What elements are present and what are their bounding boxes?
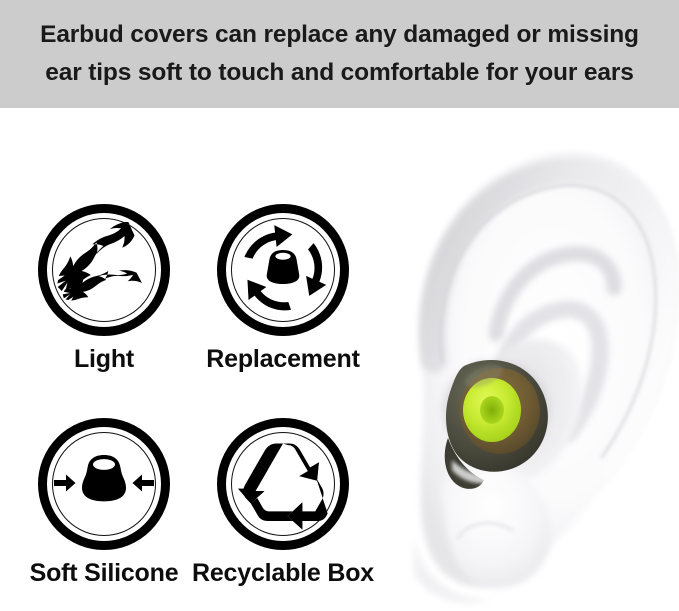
feature-grid: Light bbox=[0, 108, 392, 611]
header-banner: Earbud covers can replace any damaged or… bbox=[0, 0, 679, 108]
headline-line-2: ear tips soft to touch and comfortable f… bbox=[45, 54, 633, 92]
eartip-bore bbox=[480, 396, 504, 424]
feature-label-recyclable-box: Recyclable Box bbox=[190, 558, 376, 588]
feature-label-soft-silicone: Soft Silicone bbox=[11, 558, 197, 588]
feature-item-replacement: Replacement bbox=[190, 204, 376, 374]
feature-item-light: Light bbox=[11, 204, 197, 374]
feature-icon-badge-light bbox=[38, 204, 170, 336]
feather-icon bbox=[56, 222, 152, 318]
feature-icon-badge-replacement bbox=[217, 204, 349, 336]
feature-icon-badge-soft-silicone bbox=[38, 418, 170, 550]
rotating-arrows-eartip-icon bbox=[233, 220, 333, 320]
eartip-squeeze-arrows-icon bbox=[52, 444, 156, 524]
feature-label-replacement: Replacement bbox=[190, 344, 376, 374]
feature-label-light: Light bbox=[11, 344, 197, 374]
feature-item-soft-silicone: Soft Silicone bbox=[11, 418, 197, 588]
product-infographic: Earbud covers can replace any damaged or… bbox=[0, 0, 679, 611]
eartip-bore bbox=[93, 459, 115, 470]
ear-photo-panel bbox=[392, 108, 679, 611]
feature-item-recyclable-box: Recyclable Box bbox=[190, 418, 376, 588]
feature-icon-badge-recyclable-box bbox=[217, 418, 349, 550]
headline-line-1: Earbud covers can replace any damaged or… bbox=[40, 16, 639, 54]
ear-with-earbud-illustration bbox=[392, 108, 679, 611]
eartip-bore bbox=[275, 253, 290, 260]
recycle-icon bbox=[237, 438, 329, 530]
